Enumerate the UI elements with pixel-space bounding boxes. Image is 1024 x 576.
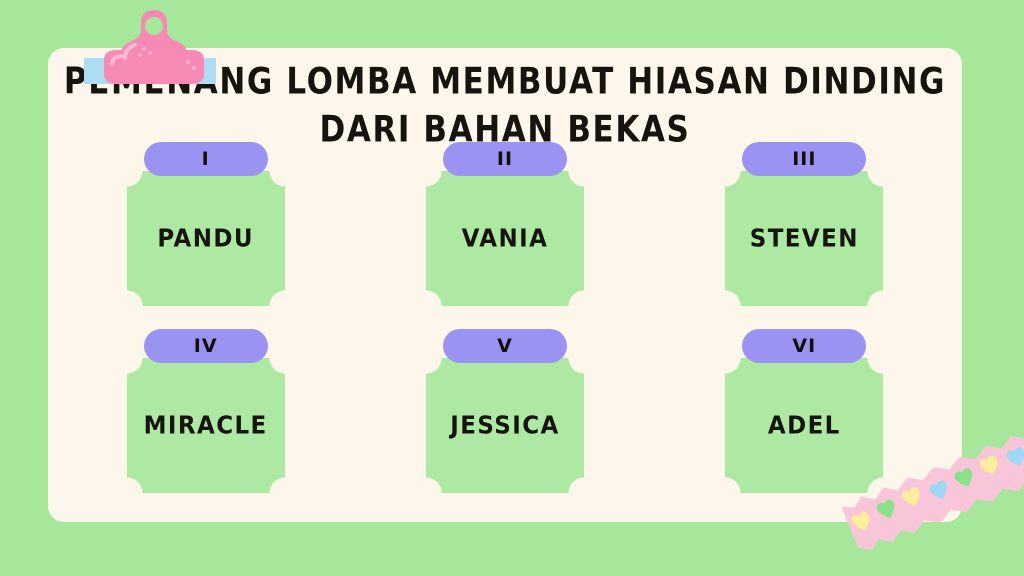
winner-card-6[interactable]: VI ADEL [707,327,902,506]
poster-canvas: PEMENANG LOMBA MEMBUAT HIASAN DINDING DA… [0,0,1024,576]
winner-name-3: STEVEN [750,224,859,253]
winner-card-4[interactable]: IV MIRACLE [108,327,303,506]
rank-label-5: V [497,335,513,357]
winner-name-2: VANIA [462,224,549,253]
winner-name-1: PANDU [157,224,254,253]
name-card-1: PANDU [127,171,285,306]
name-card-6: ADEL [725,358,883,493]
name-card-5: JESSICA [426,358,584,493]
rank-label-4: IV [194,335,218,357]
page-title: PEMENANG LOMBA MEMBUAT HIASAN DINDING DA… [48,58,962,147]
winner-card-2[interactable]: II VANIA [407,140,602,319]
title-line-2: DARI BAHAN BEKAS [48,106,962,154]
winner-name-5: JESSICA [450,411,559,440]
winner-name-4: MIRACLE [144,411,268,440]
name-card-4: MIRACLE [127,358,285,493]
rank-label-6: VI [792,335,816,357]
winner-card-3[interactable]: III STEVEN [707,140,902,319]
rank-badge-4: IV [144,329,268,363]
winner-name-6: ADEL [768,411,841,440]
poster-board: PEMENANG LOMBA MEMBUAT HIASAN DINDING DA… [48,48,962,522]
rank-badge-5: V [443,329,567,363]
name-card-2: VANIA [426,171,584,306]
winners-grid: I PANDU II VANIA III STEVEN [108,140,902,506]
winner-card-5[interactable]: V JESSICA [407,327,602,506]
name-card-3: STEVEN [725,171,883,306]
winner-card-1[interactable]: I PANDU [108,140,303,319]
title-line-1: PEMENANG LOMBA MEMBUAT HIASAN DINDING [48,58,962,106]
rank-badge-6: VI [742,329,866,363]
